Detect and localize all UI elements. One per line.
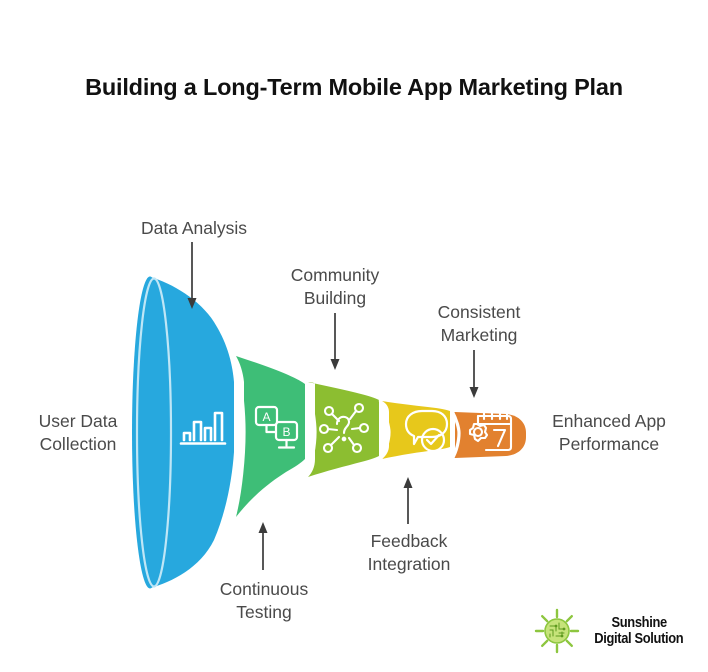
- label-feedback-integration: Feedback Integration: [338, 530, 480, 576]
- sun-circuit-icon: [533, 607, 581, 655]
- infographic-canvas: Building a Long-Term Mobile App Marketin…: [0, 0, 708, 672]
- label-enhanced-app-performance: Enhanced App Performance: [534, 410, 684, 456]
- funnel-segment-continuous-testing[interactable]: [236, 356, 305, 517]
- label-continuous-testing: Continuous Testing: [194, 578, 334, 624]
- svg-text:A: A: [262, 410, 270, 424]
- brand-name-line1: Sunshine: [611, 615, 666, 631]
- label-consistent-marketing: Consistent Marketing: [414, 301, 544, 347]
- funnel-right-cap: [455, 412, 526, 458]
- divider-2: [306, 381, 315, 478]
- brand-name-line2: Digital Solution: [594, 631, 683, 647]
- arrow-community-building: [331, 313, 340, 370]
- arrow-consistent-marketing: [470, 350, 479, 398]
- brand-logo: Sunshine Digital Solution: [533, 605, 693, 657]
- arrow-data-analysis: [188, 242, 197, 309]
- arrow-feedback-integration: [404, 477, 413, 524]
- label-user-data-collection: User Data Collection: [18, 410, 138, 456]
- brand-logo-text: Sunshine Digital Solution: [587, 615, 691, 647]
- divider-3: [380, 400, 389, 460]
- svg-text:B: B: [282, 425, 290, 439]
- label-data-analysis: Data Analysis: [118, 217, 270, 240]
- arrow-continuous-testing: [259, 522, 268, 570]
- label-community-building: Community Building: [264, 264, 406, 310]
